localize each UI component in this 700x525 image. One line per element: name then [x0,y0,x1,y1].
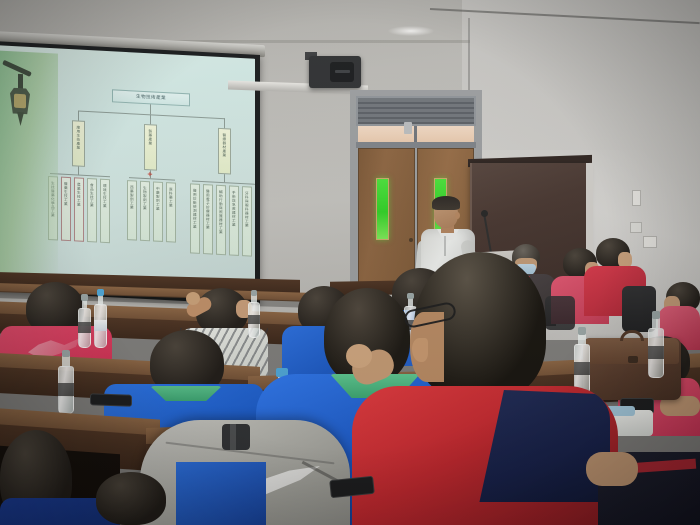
slide-leaf-3-1: 醫用診斷檢測器材工業 [190,183,200,254]
slide-branch-label-3: 醫療器材產業 [222,133,226,157]
water-bottle-6 [58,366,74,414]
lamp-silhouette-icon [2,61,38,141]
slide-leaf-2-1: 西藥製劑工業 [127,180,137,241]
slide-leaf-1-2: 醫藥生技工業 [61,177,71,242]
edge-bus [78,111,225,120]
edge-b1-down [78,167,79,175]
slide-leaf-label-3-3: 輔助行動與照護器材工業 [219,190,223,234]
slide-branch-node-3: 醫療器材產業 [218,128,231,175]
edge-b1 [78,111,79,121]
foreground-hand-reaching [346,344,372,368]
slide-leaf-label-3-4: 手術與急救器材工業 [232,191,236,227]
speaker-slot [335,70,350,73]
classroom-photo: 生物技術產業 應用生技產業 生技醫藥化學品工業 醫藥生技工業 農業生技工業 食品… [0,0,700,525]
slide-leaf-label-3-1: 醫用診斷檢測器材工業 [193,189,197,229]
slide-leaf-1-4: 食品生技工業 [87,178,97,243]
light-switch-icon[interactable] [632,190,641,206]
backpack-strap-buckle [230,424,236,450]
edge-b3-down [224,174,225,182]
slide-leaf-label-3-2: 醫用電子診療器材工業 [206,189,210,229]
slide-leaf-label-1-3: 農業生技工業 [77,182,81,206]
transom-mullion [414,126,417,142]
slide-leaf-label-1-2: 醫藥生技工業 [64,182,68,206]
raised-hand [186,292,200,305]
foreground-head-left-2 [96,472,166,525]
edge-b3 [224,118,225,128]
slide-leaf-3-4: 手術與急救器材工業 [229,185,239,256]
presenter-ear [455,212,460,219]
projected-slide: 生物技術產業 應用生技產業 生技醫藥化學品工業 醫藥生技工業 農業生技工業 食品… [48,84,248,292]
slide-branch-node-2: 製藥產業 [144,124,157,171]
smartphone-centre[interactable] [90,393,132,406]
slide-root-node: 生物技術產業 [112,89,190,106]
presenter-hair [432,196,460,210]
edge-root-down [150,104,151,114]
slide-leaf-3-2: 醫用電子診療器材工業 [203,184,213,255]
slide-leaf-2-4: 原料藥工業 [166,182,176,243]
edge-b2 [150,114,151,124]
chair-back-right [622,286,656,332]
water-bottle-10 [648,328,664,378]
slide-leaf-2-3: 中藥製劑工業 [153,181,163,242]
slide-leaf-1-3: 農業生技工業 [74,177,84,242]
foreground-hands-clasped [586,452,638,486]
water-bottle-1 [78,308,91,348]
water-bottle-2 [94,304,107,348]
water-bottle-3 [248,302,260,338]
slide-leaf-label-2-2: 生物製劑工業 [143,186,147,210]
slide-leaf-3-5: 牙科與眼科器材工業 [242,186,252,257]
power-outlet-icon[interactable] [630,222,642,233]
slide-leaf-3-3: 輔助行動與照護器材工業 [216,185,226,256]
door-glass-left [376,178,389,240]
door-latch-icon [404,122,412,134]
slide-leaf-label-2-3: 中藥製劑工業 [156,187,160,211]
backpack-strap [222,424,250,450]
foreground-torso-blue-lower [176,462,266,525]
slide-branch-label-1: 應用生技產業 [76,125,80,149]
slide-branch-label-2: 製藥產業 [148,129,152,145]
slide-root-label: 生物技術產業 [136,94,166,101]
microphone-icon [481,210,488,217]
chair-back-centre [545,296,575,330]
louvered-transom-icon [356,96,476,126]
door-handle-left-icon[interactable] [409,238,413,242]
bag-buckle-icon [628,356,638,363]
edge-b1-bus [50,173,110,177]
slide-leaf-1-5: 環境生技工業 [100,179,110,244]
power-outlet-icon-2[interactable] [643,236,657,248]
slide-leaf-label-2-1: 西藥製劑工業 [130,185,134,209]
slide-leaf-label-1-4: 食品生技工業 [90,183,94,207]
slide-branch-node-1: 應用生技產業 [72,120,85,167]
slide-leaf-label-2-4: 原料藥工業 [169,187,173,207]
presenter-placket [444,236,446,256]
slide-leaf-2-2: 生物製劑工業 [140,181,150,242]
slide-leaf-label-3-5: 牙科與眼科器材工業 [245,191,249,227]
slide-leaf-label-1-5: 環境生技工業 [103,184,107,208]
foreground-ear [412,338,428,362]
ceiling-light-reflection [388,26,434,36]
